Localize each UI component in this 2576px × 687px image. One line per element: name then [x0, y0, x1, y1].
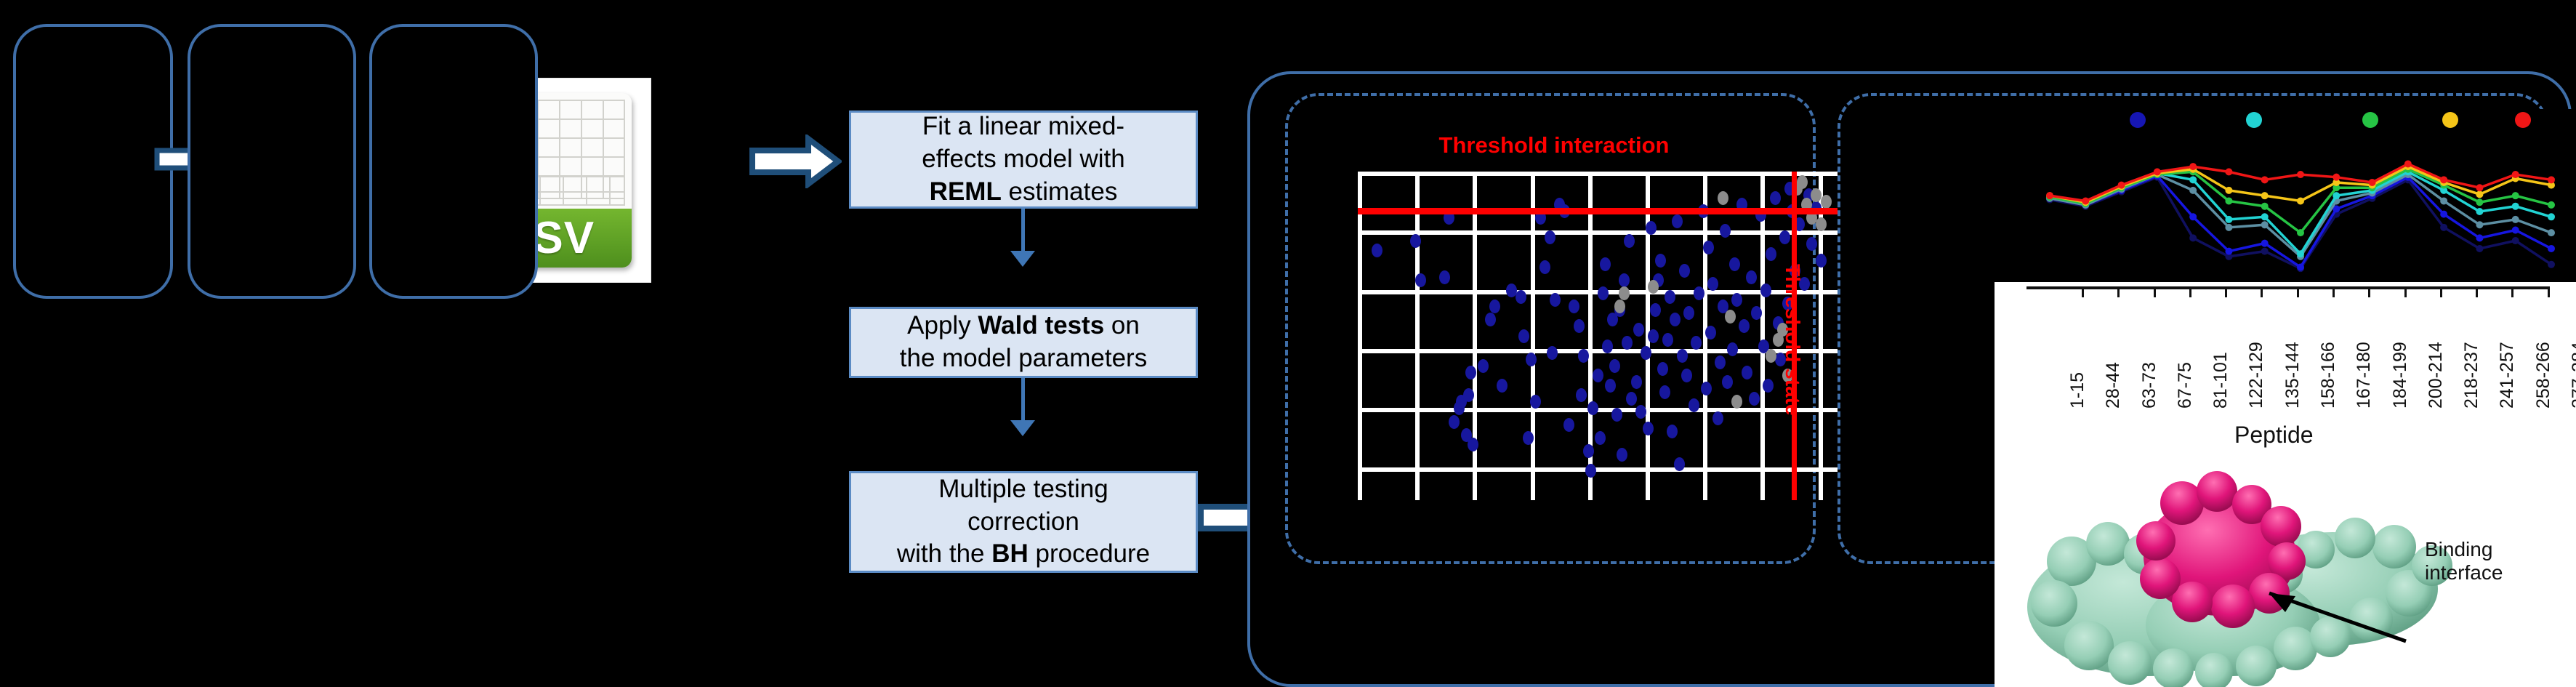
peptide-series-marker	[2548, 229, 2555, 236]
peptide-series-marker	[2333, 174, 2340, 181]
x-axis-tick-label: 135-144	[2282, 342, 2303, 409]
scatter-point	[1720, 224, 1731, 238]
scatter-point	[1727, 342, 1738, 356]
scatter-point	[1703, 241, 1714, 254]
x-axis-tick	[2333, 286, 2335, 297]
scatter-point	[1643, 422, 1654, 435]
x-axis-tick	[2511, 286, 2513, 297]
peptide-series-marker	[2082, 197, 2089, 204]
step-fit-model-text: Fit a linear mixed-effects model withREM…	[922, 111, 1125, 208]
peptide-series-marker	[2225, 197, 2232, 204]
y-axis-low-tick: 0.01	[1999, 282, 2037, 286]
peptide-series-marker	[2476, 221, 2483, 228]
x-axis-tick-label: 67-75	[2175, 362, 2196, 409]
scatter-point	[1672, 214, 1683, 228]
peptide-series-marker	[2154, 168, 2161, 175]
scatter-point	[1576, 388, 1587, 402]
peptide-series-marker	[2512, 237, 2519, 244]
step-fit-model: Fit a linear mixed-effects model withREM…	[849, 111, 1198, 209]
scatter-point	[1624, 234, 1635, 248]
x-axis-tick	[2154, 286, 2156, 297]
scatter-point	[1655, 254, 1666, 268]
peptide-series-marker	[2476, 190, 2483, 198]
step-multiple-testing-text: Multiple testingcorrectionwith the BH pr…	[897, 473, 1150, 571]
scatter-point	[1821, 195, 1832, 209]
scatter-point	[1516, 290, 1526, 304]
scatter-point	[1641, 346, 1651, 360]
peptide-series-marker	[2046, 192, 2053, 199]
binding-interface-label: Binding interface	[2425, 538, 2503, 584]
scatter-point	[1725, 310, 1736, 324]
scatter-point	[1729, 257, 1740, 271]
x-axis-tick-label: 241-257	[2497, 342, 2518, 409]
scatter-point	[1583, 444, 1594, 458]
peptide-series-marker	[2261, 176, 2269, 183]
threshold-state-label: Threshold state	[1781, 264, 1804, 415]
scatter-point	[1449, 415, 1460, 429]
peptide-series-marker	[2189, 187, 2197, 194]
peptide-series-marker	[2189, 234, 2197, 241]
x-axis-tick-label: 218-237	[2461, 342, 2482, 409]
peptide-series-marker	[2476, 184, 2483, 191]
scatter-point	[1622, 336, 1633, 350]
scatter-point	[1602, 340, 1613, 353]
peptide-series-marker	[2297, 229, 2304, 236]
peptide-series-marker	[2440, 211, 2447, 218]
scatter-point	[1585, 464, 1596, 478]
scatter-point	[1648, 280, 1659, 294]
scatter-point	[1530, 395, 1541, 409]
csv-panel	[188, 24, 356, 299]
scatter-point	[1545, 230, 1555, 244]
scatter-point	[1670, 313, 1681, 326]
arrow-csv-to-analysis	[749, 134, 842, 188]
scatter-point	[1372, 244, 1382, 257]
x-axis-tick-label: 81-101	[2210, 352, 2231, 409]
peptide-series-marker	[2476, 234, 2483, 241]
x-axis-tick-label: 158-166	[2318, 342, 2339, 409]
connector-2-head	[1010, 420, 1035, 436]
step-wald-tests: Apply Wald tests onthe model parameters	[849, 307, 1198, 378]
x-axis-tick-label: 122-129	[2246, 342, 2267, 409]
scatter-point	[1731, 395, 1742, 409]
binding-interface-line2: interface	[2425, 561, 2503, 584]
scatter-point	[1712, 411, 1723, 425]
scatter-point	[1410, 234, 1421, 248]
x-axis-tick	[2225, 286, 2227, 297]
binding-interface-line1: Binding	[2425, 538, 2503, 561]
scatter-point	[1539, 260, 1550, 274]
scatter-point	[1760, 284, 1771, 297]
x-axis-ticks	[2026, 286, 2550, 298]
scatter-point	[1468, 438, 1478, 451]
scatter-point	[1465, 366, 1476, 379]
peptide-series-marker	[2297, 250, 2304, 257]
scatter-point	[1806, 237, 1817, 251]
scatter-point	[1550, 293, 1561, 307]
scatter-point	[1593, 369, 1603, 382]
peptide-series-marker	[2440, 176, 2447, 183]
peptide-axis-card: 1-1528-4463-7367-7581-101122-129135-1441…	[1995, 282, 2576, 687]
peptide-series-marker	[2225, 216, 2232, 223]
x-axis-tick	[2261, 286, 2263, 297]
peptide-series-marker	[2404, 160, 2412, 167]
scatter-point	[1635, 405, 1646, 419]
analysis-panel	[369, 24, 538, 299]
scatter-point	[1523, 431, 1534, 445]
scatter-point	[1816, 217, 1827, 231]
scatter-point	[1574, 319, 1585, 333]
scatter-point	[1766, 349, 1776, 363]
x-axis-tick-label: 277-284	[2569, 342, 2576, 409]
peptide-series-marker	[2440, 197, 2447, 204]
flowchart-stage: X CSV Fit a linear mixed-effects model w…	[0, 0, 2576, 687]
scatter-points-layer	[1358, 172, 1838, 500]
scatter-point	[1691, 336, 1702, 350]
scatter-point	[1689, 398, 1699, 412]
peptide-series-marker	[2261, 221, 2269, 228]
x-axis-title: Peptide	[2234, 422, 2314, 449]
scatter-point	[1701, 382, 1712, 395]
scatter-point	[1617, 448, 1627, 462]
x-axis-tick-label: 28-44	[2103, 362, 2124, 409]
scatter-point	[1816, 254, 1827, 268]
scatter-point	[1605, 379, 1616, 393]
peptide-series-marker	[2225, 168, 2232, 175]
protein-complex-render	[2002, 451, 2452, 687]
scatter-point	[1779, 230, 1790, 244]
x-axis-tick-label: 258-266	[2533, 342, 2554, 409]
scatter-point	[1746, 270, 1757, 284]
scatter-point	[1631, 375, 1642, 389]
scatter-point	[1811, 188, 1822, 202]
scatter-point	[1578, 349, 1589, 363]
peptide-lines-svg	[1963, 109, 2573, 284]
peptide-series-marker	[2261, 213, 2269, 220]
scatter-point	[1715, 355, 1726, 369]
peptide-series-marker	[2476, 208, 2483, 215]
x-axis-tick	[2297, 286, 2299, 297]
peptide-series-marker	[2261, 240, 2269, 247]
x-axis-tick-label: 63-73	[2139, 362, 2160, 409]
x-axis-tick	[2476, 286, 2478, 297]
scatter-point	[1633, 323, 1644, 337]
scatter-point	[1739, 319, 1750, 333]
scatter-point	[1518, 329, 1529, 343]
peptide-series-marker	[2225, 224, 2232, 231]
scatter-point	[1489, 300, 1500, 313]
peptide-profile-chart	[1963, 109, 2573, 284]
scatter-point	[1679, 264, 1690, 278]
scatter-point	[1595, 431, 1606, 445]
peptide-series-marker	[2261, 203, 2269, 210]
scatter-point	[1742, 366, 1752, 379]
x-axis-tick	[2368, 286, 2370, 297]
scatter-point	[1646, 221, 1657, 235]
scatter-point	[1587, 401, 1598, 415]
peptide-series-marker	[2512, 171, 2519, 178]
scatter-point	[1619, 273, 1630, 287]
peptide-series-marker	[2189, 176, 2197, 183]
peptide-series-marker	[2225, 248, 2232, 255]
peptide-series-marker	[2297, 263, 2304, 270]
scatter-title: Threshold interaction	[1439, 132, 1670, 158]
scatter-point	[1439, 270, 1450, 284]
scatter-point	[1718, 191, 1728, 205]
x-axis-tick	[2189, 286, 2191, 297]
scatter-point	[1463, 388, 1474, 402]
scatter-point	[1683, 306, 1694, 320]
connector-1-head	[1010, 251, 1035, 267]
scatter-point	[1657, 362, 1668, 376]
peptide-series-marker	[2548, 213, 2555, 220]
x-axis-tick	[2117, 286, 2120, 297]
peptide-series-marker	[2261, 192, 2269, 199]
x-axis-tick	[2404, 286, 2407, 297]
scatter-point	[1665, 290, 1675, 304]
peptide-series-marker	[2476, 198, 2483, 206]
scatter-point	[1707, 277, 1718, 291]
scatter-point	[1705, 326, 1716, 340]
peptide-series-marker	[2225, 187, 2232, 194]
peptide-series-marker	[2261, 248, 2269, 255]
threshold-scatter-chart: Threshold interaction Threshold state	[1329, 129, 1779, 522]
x-axis-tick	[2082, 286, 2084, 297]
threshold-interaction-line	[1358, 208, 1838, 214]
scatter-point	[1667, 425, 1678, 438]
peptide-series-marker	[2440, 224, 2447, 231]
scatter-point	[1648, 329, 1659, 343]
step-multiple-testing: Multiple testingcorrectionwith the BH pr…	[849, 471, 1198, 573]
scatter-point	[1681, 369, 1692, 382]
scatter-point	[1611, 408, 1622, 422]
x-axis-tick	[2440, 286, 2442, 297]
peptide-series-marker	[2297, 197, 2304, 204]
scatter-point	[1619, 286, 1630, 300]
scatter-point	[1694, 286, 1704, 300]
scatter-point	[1415, 273, 1426, 287]
peptide-series-marker	[2118, 182, 2125, 189]
scatter-point	[1650, 303, 1661, 317]
scatter-point	[1626, 392, 1637, 406]
peptide-series-marker	[2369, 179, 2376, 186]
scatter-point	[1674, 457, 1685, 471]
scatter-point	[1485, 313, 1496, 326]
scatter-point	[1749, 392, 1760, 406]
scatter-point	[1797, 175, 1808, 189]
x-axis-tick-label: 200-214	[2426, 342, 2447, 409]
x-axis-tick-labels: 1-1528-4463-7367-7581-101122-129135-1441…	[2026, 300, 2550, 409]
peptide-series-marker	[2512, 192, 2519, 199]
peptide-series-line	[2050, 164, 2551, 201]
scatter-point	[1751, 306, 1762, 320]
scatter-point	[1497, 379, 1508, 393]
peptide-series-marker	[2512, 203, 2519, 210]
peptide-series-marker	[2476, 245, 2483, 252]
scatter-point	[1563, 418, 1574, 432]
peptide-series-marker	[2548, 201, 2555, 209]
peptide-series-marker	[2548, 176, 2555, 183]
x-axis-tick	[2548, 286, 2550, 297]
scatter-point	[1766, 247, 1776, 261]
x-axis-tick-label: 1-15	[2067, 372, 2088, 409]
scatter-point	[1526, 353, 1537, 366]
scatter-point	[1731, 293, 1742, 307]
scatter-point	[1569, 300, 1579, 313]
scatter-point	[1770, 191, 1781, 205]
peptide-series-marker	[2333, 192, 2340, 199]
input-panel	[13, 24, 173, 299]
scatter-point	[1662, 333, 1673, 347]
peptide-series-marker	[2512, 216, 2519, 223]
scatter-plot-area: Threshold state	[1358, 172, 1838, 500]
peptide-series-marker	[2297, 171, 2304, 178]
x-axis-tick-label: 167-180	[2354, 342, 2375, 409]
scatter-point	[1600, 257, 1611, 271]
x-axis-tick-label: 184-199	[2390, 342, 2411, 409]
scatter-point	[1763, 379, 1774, 393]
peptide-series-marker	[2189, 163, 2197, 170]
scatter-point	[1598, 286, 1609, 300]
scatter-point	[1547, 346, 1558, 360]
scatter-point	[1659, 385, 1670, 399]
peptide-series-marker	[2512, 226, 2519, 233]
step-wald-tests-text: Apply Wald tests onthe model parameters	[900, 310, 1147, 375]
peptide-series-marker	[2548, 261, 2555, 268]
scatter-point	[1609, 359, 1620, 373]
scatter-point	[1677, 349, 1688, 363]
scatter-point	[1722, 375, 1733, 389]
scatter-point	[1614, 300, 1625, 313]
peptide-series-marker	[2548, 245, 2555, 252]
peptide-series-marker	[2189, 213, 2197, 220]
scatter-point	[1478, 359, 1489, 373]
